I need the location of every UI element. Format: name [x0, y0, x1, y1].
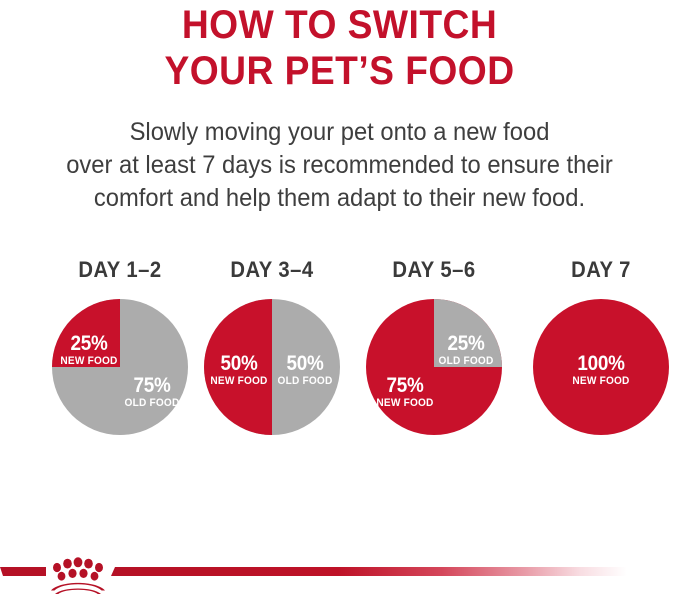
intro-line-3: comfort and help them adapt to their new… [17, 182, 662, 215]
pie-label-day-3-4: DAY 3–4 [194, 258, 350, 282]
intro-line-1: Slowly moving your pet onto a new food [17, 116, 662, 149]
pie-slice-new-food [533, 299, 669, 435]
footer-brand-rule [0, 552, 679, 594]
pie-chart-day-5-6: DAY 5–6 25% OLD FOOD 75% NEW FOOD [349, 258, 519, 448]
pie-slice-new-food [52, 299, 120, 367]
pie-slice-new-food [204, 299, 272, 435]
transition-schedule-chart-row: DAY 1–2 25% NEW FOOD 75% OLD FOOD DAY 3–… [0, 258, 679, 448]
pie-graphic-day-1-2: 25% NEW FOOD 75% OLD FOOD [52, 299, 188, 435]
pie-graphic-day-5-6: 25% OLD FOOD 75% NEW FOOD [366, 299, 502, 435]
intro-line-2: over at least 7 days is recommended to e… [17, 149, 662, 182]
infographic-canvas: HOW TO SWITCH YOUR PET’S FOOD Slowly mov… [0, 0, 679, 594]
rule-segment-right [111, 567, 627, 576]
pie-svg-day-1-2 [52, 299, 188, 435]
rule-segment-left [0, 567, 46, 576]
whitespace-spacer [0, 448, 679, 552]
title-line-2: YOUR PET’S FOOD [24, 48, 655, 94]
pie-label-day-7: DAY 7 [523, 258, 679, 282]
title-line-1: HOW TO SWITCH [24, 2, 655, 48]
pie-graphic-day-7: 100% NEW FOOD [533, 299, 669, 435]
pie-chart-day-3-4: DAY 3–4 50% NEW FOOD 50% OLD FOOD [187, 258, 357, 448]
royal-canin-crown-icon [44, 552, 112, 594]
intro-paragraph: Slowly moving your pet onto a new food o… [0, 116, 679, 215]
pie-svg-day-5-6 [366, 299, 502, 435]
pie-chart-day-7: DAY 7 100% NEW FOOD [516, 258, 679, 448]
pie-svg-day-7 [533, 299, 669, 435]
pie-label-day-1-2: DAY 1–2 [42, 258, 198, 282]
pie-svg-day-3-4 [204, 299, 340, 435]
pie-slice-old-food [434, 299, 502, 367]
pie-chart-day-1-2: DAY 1–2 25% NEW FOOD 75% OLD FOOD [35, 258, 205, 448]
pie-graphic-day-3-4: 50% NEW FOOD 50% OLD FOOD [204, 299, 340, 435]
page-title: HOW TO SWITCH YOUR PET’S FOOD [0, 2, 679, 94]
pie-label-day-5-6: DAY 5–6 [356, 258, 512, 282]
